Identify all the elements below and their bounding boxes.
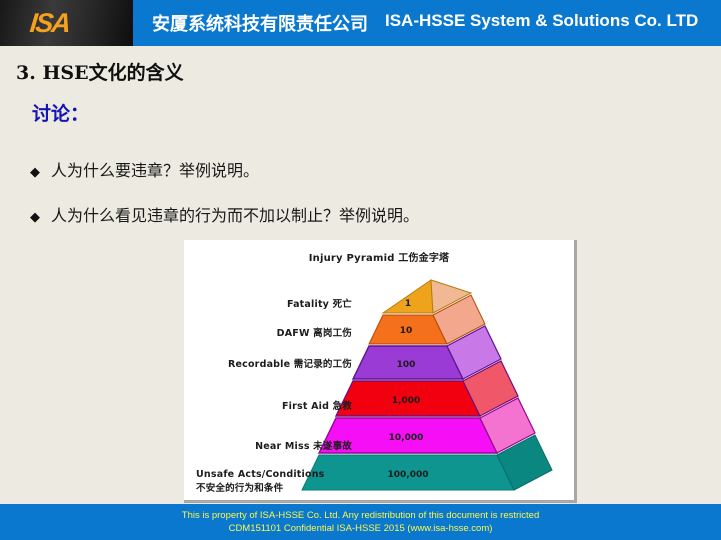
pyramid-label-recordable: Recordable 需记录的工伤 xyxy=(228,356,352,370)
pyramid-graphic: 100,000 10,000 1,000 100 10 1 xyxy=(184,240,577,503)
pyramid-label-fatality: Fatality 死亡 xyxy=(287,296,352,310)
logo-container: ISA xyxy=(0,0,133,46)
pyramid-label-unsafe-acts-en: Unsafe Acts/Conditions xyxy=(196,468,342,482)
pyramid-level-1-value: 1 xyxy=(405,299,411,309)
bullet-text: 人为什么看见违章的行为而不加以制止？举例说明。 xyxy=(51,202,419,226)
pyramid-label-near-miss: Near Miss 未遂事故 xyxy=(255,438,352,452)
bullet-item: ◆ 人为什么看见违章的行为而不加以制止？举例说明。 xyxy=(30,202,419,226)
discussion-label: 讨论： xyxy=(32,99,89,126)
pyramid-level-5-value: 10,000 xyxy=(389,433,424,443)
bullet-item: ◆ 人为什么要违章？举例说明。 xyxy=(30,157,259,181)
diamond-bullet-icon: ◆ xyxy=(30,165,40,180)
page-title: 3. HSE文化的含义 xyxy=(16,58,184,85)
pyramid-label-dafw: DAFW 离岗工伤 xyxy=(277,325,352,339)
isa-logo-icon: ISA xyxy=(28,8,70,39)
footer-document-line: CDM151101 Confidential ISA-HSSE 2015 (ww… xyxy=(0,523,721,534)
diamond-bullet-icon: ◆ xyxy=(30,210,40,225)
header-title-chinese: 安厦系统科技有限责任公司 xyxy=(152,10,368,36)
header-title-bar: 安厦系统科技有限责任公司 ISA-HSSE System & Solutions… xyxy=(133,0,721,46)
pyramid-level-3-value: 100 xyxy=(397,360,416,370)
footer-copyright-line: This is property of ISA-HSSE Co. Ltd. An… xyxy=(0,510,721,521)
slide-footer: This is property of ISA-HSSE Co. Ltd. An… xyxy=(0,504,721,540)
pyramid-label-unsafe-acts-cn: 不安全的行为和条件 xyxy=(196,482,342,496)
pyramid-label-first-aid: First Aid 急救 xyxy=(282,398,352,412)
pyramid-level-6-value: 100,000 xyxy=(388,470,429,480)
pyramid-level-4-value: 1,000 xyxy=(392,396,420,406)
pyramid-label-unsafe-acts: Unsafe Acts/Conditions 不安全的行为和条件 xyxy=(196,468,342,496)
bullet-text: 人为什么要违章？举例说明。 xyxy=(51,157,259,181)
injury-pyramid-figure: Injury Pyramid 工伤金字塔 100,000 10,000 1,00… xyxy=(184,240,577,503)
app-header: ISA 安厦系统科技有限责任公司 ISA-HSSE System & Solut… xyxy=(0,0,721,46)
header-title-english: ISA-HSSE System & Solutions Co. LTD xyxy=(385,11,698,31)
pyramid-level-2-value: 10 xyxy=(400,326,413,336)
